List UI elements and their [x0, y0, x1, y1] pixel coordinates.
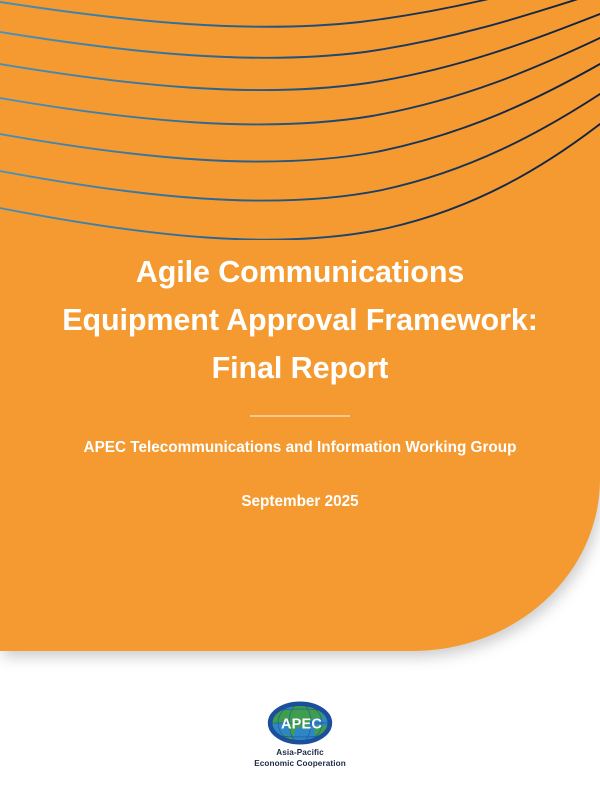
- title-divider: [250, 415, 350, 417]
- apec-globe-icon: APEC: [263, 700, 337, 746]
- apec-logo: APEC Asia-Pacific Economic Cooperation: [0, 700, 600, 769]
- apec-logo-caption: Asia-Pacific Economic Cooperation: [0, 748, 600, 769]
- publication-date: September 2025: [0, 493, 600, 511]
- title-line-3: Final Report: [212, 351, 389, 385]
- apec-caption-line-2: Economic Cooperation: [0, 759, 600, 770]
- title-line-1: Agile Communications: [136, 255, 464, 289]
- document-subtitle: APEC Telecommunications and Information …: [0, 437, 600, 459]
- page-title: Agile Communications Equipment Approval …: [0, 248, 600, 392]
- apec-globe-wordmark: APEC: [281, 717, 322, 733]
- apec-caption-line-1: Asia-Pacific: [0, 748, 600, 759]
- title-line-2: Equipment Approval Framework:: [62, 303, 538, 337]
- cover-panel: Agile Communications Equipment Approval …: [0, 0, 600, 651]
- title-block: Agile Communications Equipment Approval …: [0, 248, 600, 511]
- wave-lines-decoration: [0, 0, 600, 240]
